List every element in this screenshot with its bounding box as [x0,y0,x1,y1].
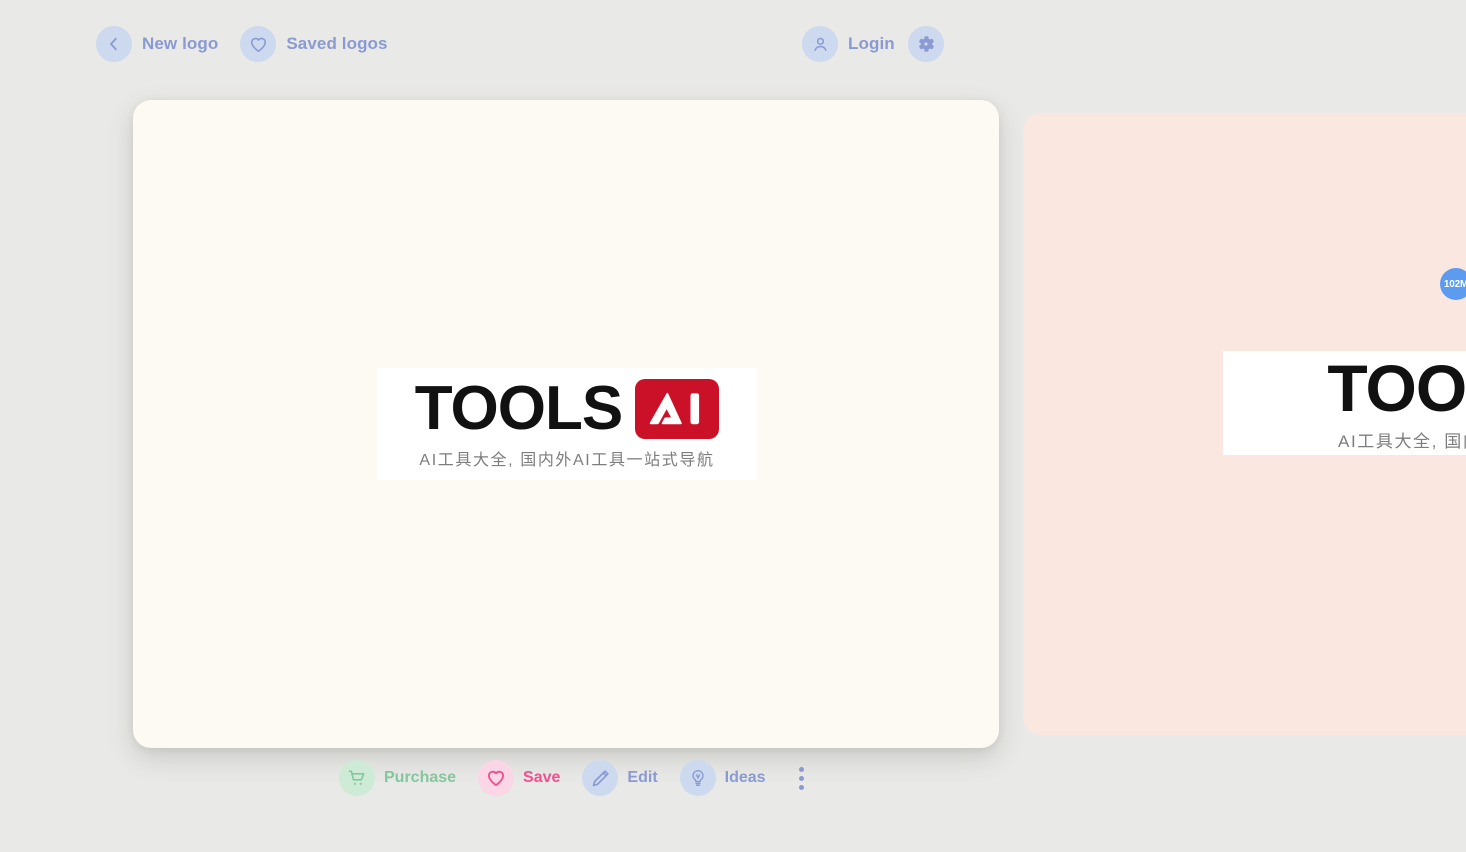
status-badge: 102M [1440,268,1466,300]
logo-variant-card[interactable]: 102M TOOLS AI工具大全, 国内外AI工 [1023,113,1466,735]
kebab-dot [799,785,804,790]
heart-outline-icon [240,26,276,62]
action-toolbar: Purchase Save Edit Ideas [339,760,814,796]
logo-artwork-main: TOOLS AI工具大全, 国内外AI工具一站式导航 [377,368,757,480]
shopping-cart-icon [339,760,375,796]
logo-subtitle: AI工具大全, 国内外AI工 [1338,427,1466,452]
new-logo-label: New logo [142,34,218,54]
save-button[interactable]: Save [478,760,560,796]
ideas-label: Ideas [725,769,766,787]
pencil-icon [582,760,618,796]
logo-subtitle: AI工具大全, 国内外AI工具一站式导航 [419,446,714,470]
new-logo-button[interactable]: New logo [96,26,218,62]
edit-button[interactable]: Edit [582,760,657,796]
logo-artwork-variant: TOOLS AI工具大全, 国内外AI工 [1223,351,1466,455]
lightbulb-icon [680,760,716,796]
logo-wordmark-row: TOOLS [415,378,719,440]
login-button[interactable]: Login [802,26,895,62]
logo-wordmark: TOOLS [415,378,622,440]
logo-wordmark-row: TOOLS [1327,355,1466,421]
heart-icon [478,760,514,796]
chevron-left-icon [96,26,132,62]
login-label: Login [848,34,895,54]
kebab-dot [799,776,804,781]
top-nav-left-group: New logo Saved logos [96,26,388,62]
save-label: Save [523,769,560,787]
kebab-dot [799,767,804,772]
purchase-label: Purchase [384,769,456,787]
saved-logos-label: Saved logos [286,34,387,54]
top-navigation-bar: New logo Saved logos Login [0,0,1466,88]
ideas-button[interactable]: Ideas [680,760,766,796]
user-icon [802,26,838,62]
gear-icon [908,26,944,62]
ai-badge-icon [635,379,719,439]
logo-wordmark: TOOLS [1327,355,1466,421]
purchase-button[interactable]: Purchase [339,760,456,796]
edit-label: Edit [627,769,657,787]
more-options-icon[interactable] [790,760,814,796]
settings-button[interactable] [908,26,944,62]
logo-preview-card[interactable]: TOOLS AI工具大全, 国内外AI工具一站式导航 [133,100,999,748]
saved-logos-button[interactable]: Saved logos [240,26,387,62]
top-nav-right-group: Login [802,26,944,62]
